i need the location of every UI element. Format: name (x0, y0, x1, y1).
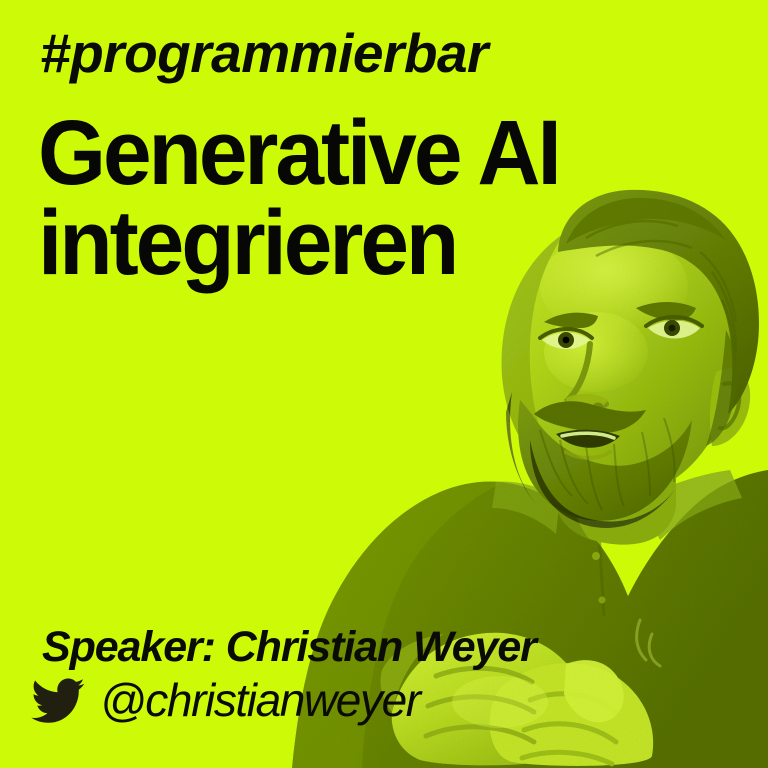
title-line-1: Generative AI (38, 108, 665, 198)
cheek-highlight (544, 312, 648, 392)
twitter-bird-icon (30, 676, 86, 724)
finger-lines-front (522, 694, 616, 764)
mouth-open (556, 430, 620, 448)
eye-right-pupil (669, 325, 676, 332)
shirt-placket (598, 516, 604, 616)
teeth-highlight (562, 433, 614, 438)
beard-shadow (530, 440, 676, 528)
nose-tip (566, 394, 608, 411)
hand-front (490, 663, 654, 766)
shirt-button (592, 552, 600, 560)
social-handle-row: @christianweyer (30, 676, 420, 724)
beard-shape (518, 400, 692, 521)
nostril-right (593, 403, 603, 410)
eye-left-pupil (563, 337, 570, 344)
thumb (564, 660, 624, 722)
twitter-handle-label: @christianweyer (100, 677, 420, 723)
eye-right-iris (664, 320, 680, 336)
shirt-button (599, 597, 606, 604)
eye-left-white (542, 333, 590, 350)
neck-shadow (556, 430, 590, 540)
page-title: Generative AI integrieren (38, 108, 665, 288)
moustache (534, 401, 646, 433)
eyebrow-right (636, 302, 696, 321)
nostril-left (566, 402, 578, 410)
collar-left (492, 482, 560, 534)
neck-shape (556, 424, 676, 545)
ear-right (710, 368, 750, 446)
title-line-2: integrieren (38, 198, 665, 288)
nose-bridge (568, 344, 606, 409)
eye-right-white (648, 321, 700, 339)
speaker-label: Speaker: Christian Weyer (42, 626, 536, 669)
collar-right (640, 470, 742, 540)
eye-left-iris (558, 332, 574, 348)
eyelid-left (540, 329, 592, 338)
hashtag-label: #programmierbar (40, 26, 488, 81)
lanyard-detail (637, 620, 660, 666)
podcast-cover-card: #programmierbar Generative AI integriere… (0, 0, 768, 768)
eyebrow-left (544, 313, 598, 328)
finger-lines-back (426, 668, 534, 742)
beard-texture (540, 418, 675, 510)
sideburn-right (706, 330, 737, 446)
beard-edge-left (506, 392, 536, 504)
hand-highlight (452, 676, 548, 728)
ear-inner-detail (720, 383, 739, 428)
eyelid-right (646, 317, 702, 326)
lower-lip (566, 452, 610, 458)
